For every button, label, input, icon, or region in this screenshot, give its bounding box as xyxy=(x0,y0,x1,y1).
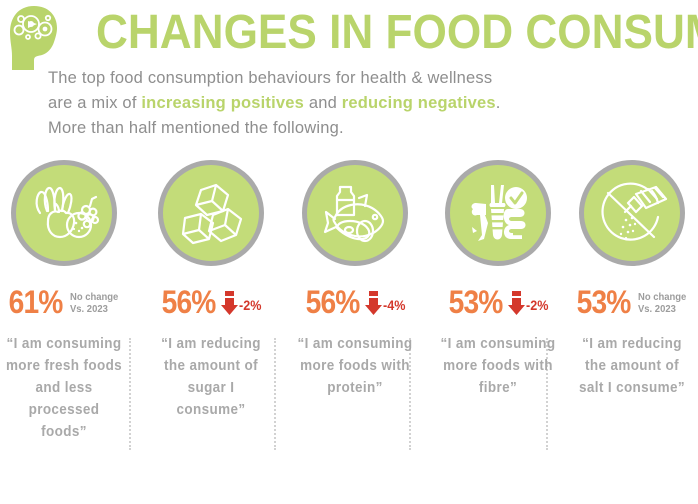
change-note-line-1: No change xyxy=(638,291,686,303)
subtitle-text-1: The top food consumption behaviours for … xyxy=(48,69,492,87)
stat-value-row: 53% -2% xyxy=(428,282,568,318)
percent-value: 53% xyxy=(576,286,630,318)
stats-columns: 61% No change Vs. 2023 “I am consuming m… xyxy=(0,155,698,504)
subtitle-line-1: The top food consumption behaviours for … xyxy=(48,66,688,91)
header: CHANGES IN FOOD CONSUMPTION xyxy=(0,0,698,72)
delta-value: -2% xyxy=(239,298,261,312)
stat-value-row: 56% -2% xyxy=(141,282,281,318)
quote-text: “I am reducing the amount of sugar I con… xyxy=(151,333,270,421)
subtitle: The top food consumption behaviours for … xyxy=(48,66,688,141)
sugar-cubes-icon xyxy=(158,160,264,266)
subtitle-text-2c: . xyxy=(496,94,501,112)
change-note-line-2: Vs. 2023 xyxy=(638,303,676,315)
delta-value: -4% xyxy=(383,298,405,312)
quote-text: “I am consuming more fresh foods and les… xyxy=(4,333,123,443)
column-divider xyxy=(129,338,132,450)
change-note-line-2: Vs. 2023 xyxy=(70,303,108,315)
quote-text: “I am consuming more foods with fibre” xyxy=(438,333,557,399)
subtitle-line-3: More than half mentioned the following. xyxy=(48,116,688,141)
page-title: CHANGES IN FOOD CONSUMPTION xyxy=(96,4,698,62)
change-indicator: -4% xyxy=(365,291,408,316)
change-indicator: -2% xyxy=(221,291,264,316)
change-note: No change Vs. 2023 xyxy=(70,291,118,315)
subtitle-highlight-positives: increasing positives xyxy=(141,94,304,112)
change-note: No change Vs. 2023 xyxy=(638,291,686,315)
fibre-vegetables-gut-icon xyxy=(445,160,551,266)
subtitle-text-2a: are a mix of xyxy=(48,94,141,112)
percent-value: 61% xyxy=(8,286,62,318)
column-divider xyxy=(274,338,277,450)
arrow-down-icon xyxy=(365,291,382,315)
head-with-gears-icon xyxy=(4,2,66,72)
arrow-down-icon xyxy=(221,291,238,315)
percent-value: 53% xyxy=(449,286,503,318)
percent-value: 56% xyxy=(162,286,216,318)
subtitle-text-2b: and xyxy=(304,94,342,112)
subtitle-line-2: are a mix of increasing positives and re… xyxy=(48,91,688,116)
subtitle-highlight-negatives: reducing negatives xyxy=(342,94,496,112)
stat-value-row: 61% No change Vs. 2023 xyxy=(0,282,134,318)
change-note-line-1: No change xyxy=(70,291,118,303)
quote-text: “I am consuming more foods with protein” xyxy=(295,333,414,399)
change-indicator: -2% xyxy=(508,291,551,316)
stat-value-row: 53% No change Vs. 2023 xyxy=(562,282,698,318)
stat-value-row: 56% -4% xyxy=(285,282,425,318)
fresh-fruit-icon xyxy=(11,160,117,266)
delta-value: -2% xyxy=(526,298,548,312)
percent-value: 56% xyxy=(306,286,360,318)
quote-text: “I am reducing the amount of salt I cons… xyxy=(572,333,691,399)
no-salt-shaker-icon xyxy=(579,160,685,266)
protein-fish-milk-egg-icon xyxy=(302,160,408,266)
arrow-down-icon xyxy=(508,291,525,315)
